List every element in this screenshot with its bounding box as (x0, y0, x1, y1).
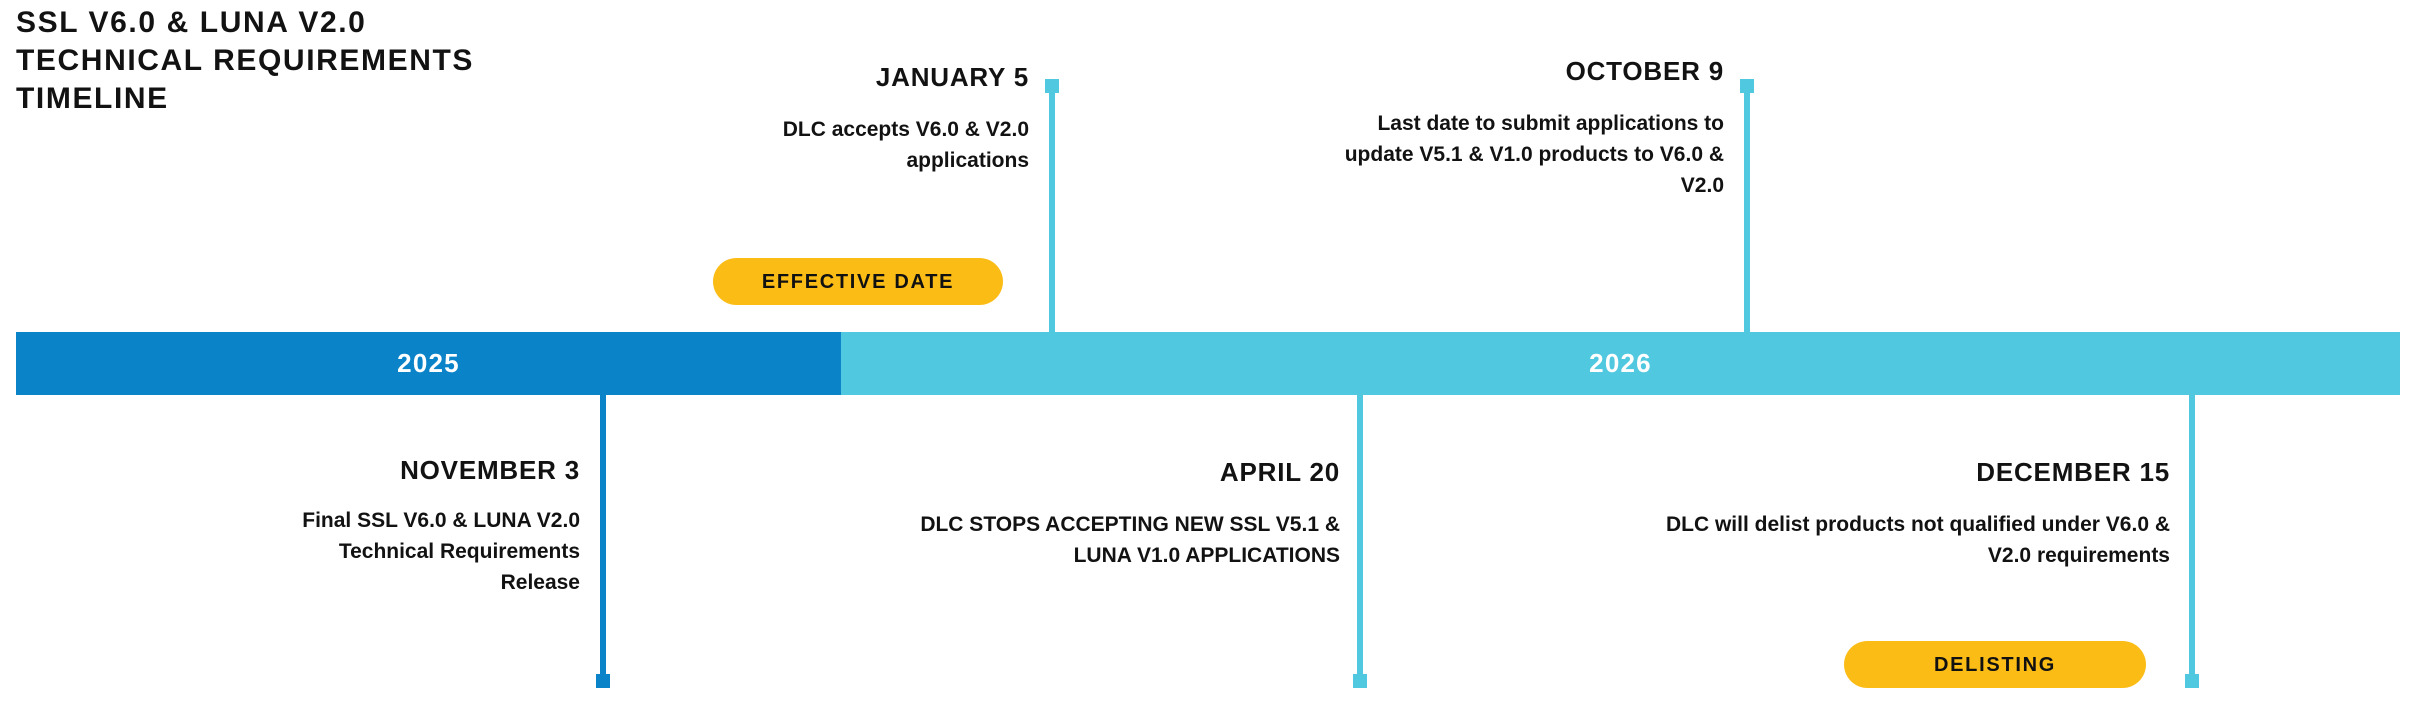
milestone-april-20: APRIL 20 DLC STOPS ACCEPTING NEW SSL V5.… (880, 457, 1340, 572)
connector-stem (1357, 395, 1363, 688)
milestone-description-october-9: Last date to submit applications to upda… (1330, 109, 1724, 202)
timeline-segment-2026: 2026 (841, 332, 2400, 395)
connector-april-20 (1357, 395, 1363, 688)
connector-stem (2189, 395, 2195, 688)
connector-january-5 (1049, 79, 1055, 332)
connector-cap-marker (1045, 79, 1059, 93)
connector-cap-marker (1353, 674, 1367, 688)
milestone-january-5: JANUARY 5 DLC accepts V6.0 & V2.0 applic… (729, 62, 1029, 177)
year-label-2025: 2025 (397, 348, 460, 379)
milestone-description-december-15: DLC will delist products not qualified u… (1660, 510, 2170, 572)
timeline-bar: 2025 2026 (16, 332, 2400, 395)
year-label-2026: 2026 (1589, 348, 1652, 379)
milestone-date-december-15: DECEMBER 15 (1660, 457, 2170, 488)
badge-effective-date[interactable]: EFFECTIVE DATE (713, 258, 1003, 305)
connector-cap-marker (596, 674, 610, 688)
page-title-line-2: TECHNICAL REQUIREMENTS (16, 42, 676, 80)
milestone-date-november-3: NOVEMBER 3 (260, 455, 580, 486)
connector-december-15 (2189, 395, 2195, 688)
badge-delisting[interactable]: DELISTING (1844, 641, 2146, 688)
connector-stem (600, 395, 606, 688)
timeline-infographic: SSL V6.0 & LUNA V2.0 TECHNICAL REQUIREME… (0, 0, 2416, 717)
milestone-november-3: NOVEMBER 3 Final SSL V6.0 & LUNA V2.0 Te… (260, 455, 580, 599)
page-title-line-1: SSL V6.0 & LUNA V2.0 (16, 4, 676, 42)
timeline-segment-2025: 2025 (16, 332, 841, 395)
connector-cap-marker (1740, 79, 1754, 93)
milestone-description-april-20: DLC STOPS ACCEPTING NEW SSL V5.1 & LUNA … (880, 510, 1340, 572)
milestone-description-november-3: Final SSL V6.0 & LUNA V2.0 Technical Req… (260, 506, 580, 599)
milestone-october-9: OCTOBER 9 Last date to submit applicatio… (1330, 56, 1724, 202)
connector-cap-marker (2185, 674, 2199, 688)
milestone-december-15: DECEMBER 15 DLC will delist products not… (1660, 457, 2170, 572)
connector-october-9 (1744, 79, 1750, 332)
milestone-date-october-9: OCTOBER 9 (1330, 56, 1724, 87)
connector-stem (1049, 79, 1055, 332)
connector-november-3 (600, 395, 606, 688)
milestone-description-january-5: DLC accepts V6.0 & V2.0 applications (729, 115, 1029, 177)
page-title-line-3: TIMELINE (16, 80, 676, 118)
page-title: SSL V6.0 & LUNA V2.0 TECHNICAL REQUIREME… (16, 4, 676, 118)
milestone-date-january-5: JANUARY 5 (729, 62, 1029, 93)
milestone-date-april-20: APRIL 20 (880, 457, 1340, 488)
connector-stem (1744, 79, 1750, 332)
